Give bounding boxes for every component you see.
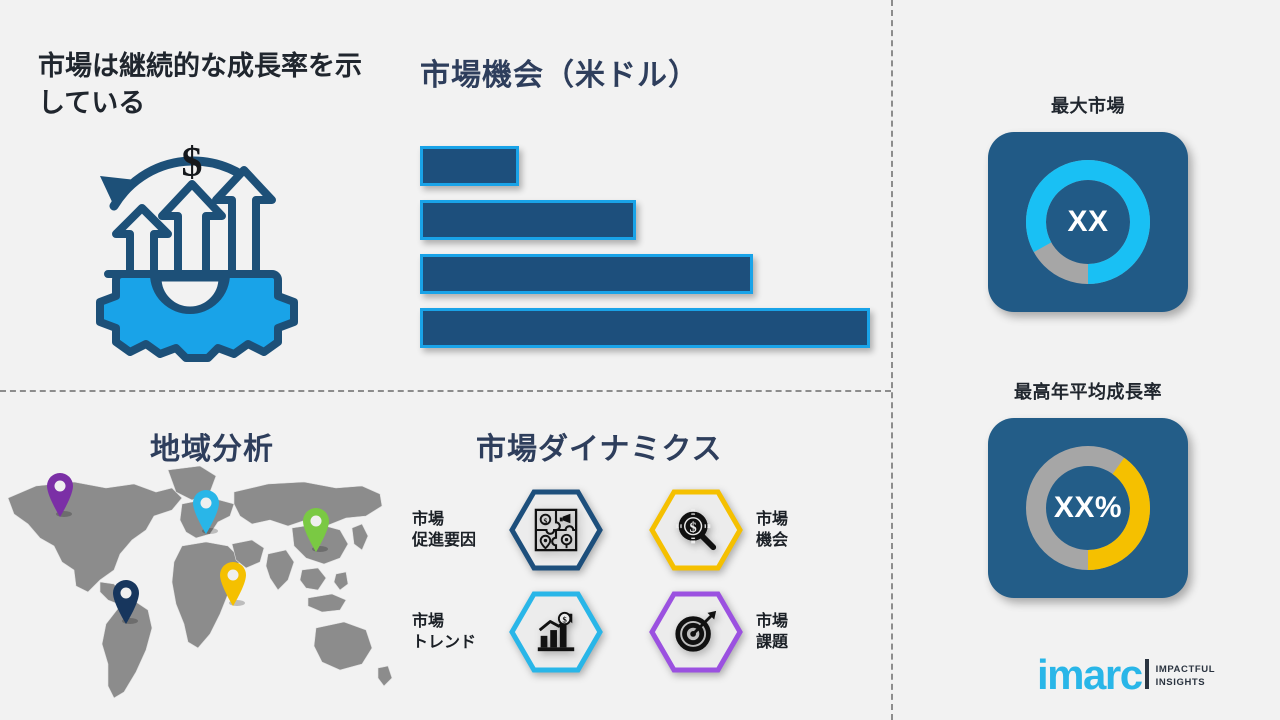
pin-south-america: [111, 577, 145, 630]
kpi-title: 最高年平均成長率: [988, 378, 1188, 404]
dynamics-item-label: 市場 促進要因: [412, 509, 508, 551]
growth-gear-arrows-icon: $: [62, 128, 318, 376]
pin-east-asia: [301, 505, 335, 558]
pin-europe: [191, 487, 225, 540]
bar-2: [420, 200, 636, 240]
puzzle-pieces-icon: $: [508, 488, 604, 572]
kpi-card: XX%: [988, 418, 1188, 598]
market-opportunity-bar-chart: [420, 146, 880, 346]
bar-row: [420, 146, 519, 186]
bar-chart-growth-icon: $: [508, 590, 604, 674]
dynamics-item-label: 市場 機会: [756, 509, 788, 551]
kpi-largest-market: 最大市場 XX: [988, 92, 1188, 312]
svg-text:$: $: [182, 140, 203, 186]
hexagon-frame: [648, 590, 744, 674]
hexagon-frame: $: [648, 488, 744, 572]
logo-tagline: IMPACTFUL INSIGHTS: [1156, 664, 1216, 690]
kpi-title: 最大市場: [988, 92, 1188, 118]
logo-wordmark: imarc: [1037, 658, 1142, 692]
svg-text:$: $: [690, 520, 697, 536]
dynamics-item-drivers[interactable]: 市場 促進要因 $: [412, 488, 612, 572]
bar-row: [420, 200, 636, 240]
kpi-highest-cagr: 最高年平均成長率 XX%: [988, 378, 1188, 598]
target-dart-icon: [648, 590, 744, 674]
pin-north-america: [45, 470, 79, 523]
slide-canvas: 市場は継続的な成長率を示している: [0, 0, 1280, 720]
dynamics-item-trends[interactable]: 市場 トレンド $: [412, 590, 612, 674]
svg-text:$: $: [544, 516, 548, 525]
bar-4: [420, 308, 870, 348]
dynamics-item-challenges[interactable]: 市場 課題: [648, 590, 848, 674]
opportunity-panel-title: 市場機会（米ドル）: [420, 50, 870, 94]
horizontal-divider: [0, 390, 891, 392]
kpi-value: XX%: [988, 491, 1188, 525]
imarc-logo: imarc IMPACTFUL INSIGHTS: [1037, 658, 1215, 692]
svg-text:$: $: [562, 614, 567, 624]
hexagon-frame: $: [508, 488, 604, 572]
dynamics-panel-title: 市場ダイナミクス: [476, 424, 723, 468]
logo-divider: [1145, 659, 1149, 689]
growth-panel-title: 市場は継続的な成長率を示している: [38, 48, 378, 123]
bar-row: [420, 254, 753, 294]
dynamics-item-opportunities[interactable]: $ 市場 機会: [648, 488, 848, 572]
bar-3: [420, 254, 753, 294]
hexagon-frame: $: [508, 590, 604, 674]
magnifier-dollar-target-icon: $: [648, 488, 744, 572]
dynamics-item-label: 市場 課題: [756, 611, 788, 653]
kpi-value: XX: [988, 205, 1188, 239]
bar-row: [420, 308, 870, 348]
bar-1: [420, 146, 519, 186]
kpi-card: XX: [988, 132, 1188, 312]
pin-middle-east: [218, 559, 252, 612]
vertical-divider: [891, 0, 893, 720]
dynamics-item-label: 市場 トレンド: [412, 611, 508, 653]
